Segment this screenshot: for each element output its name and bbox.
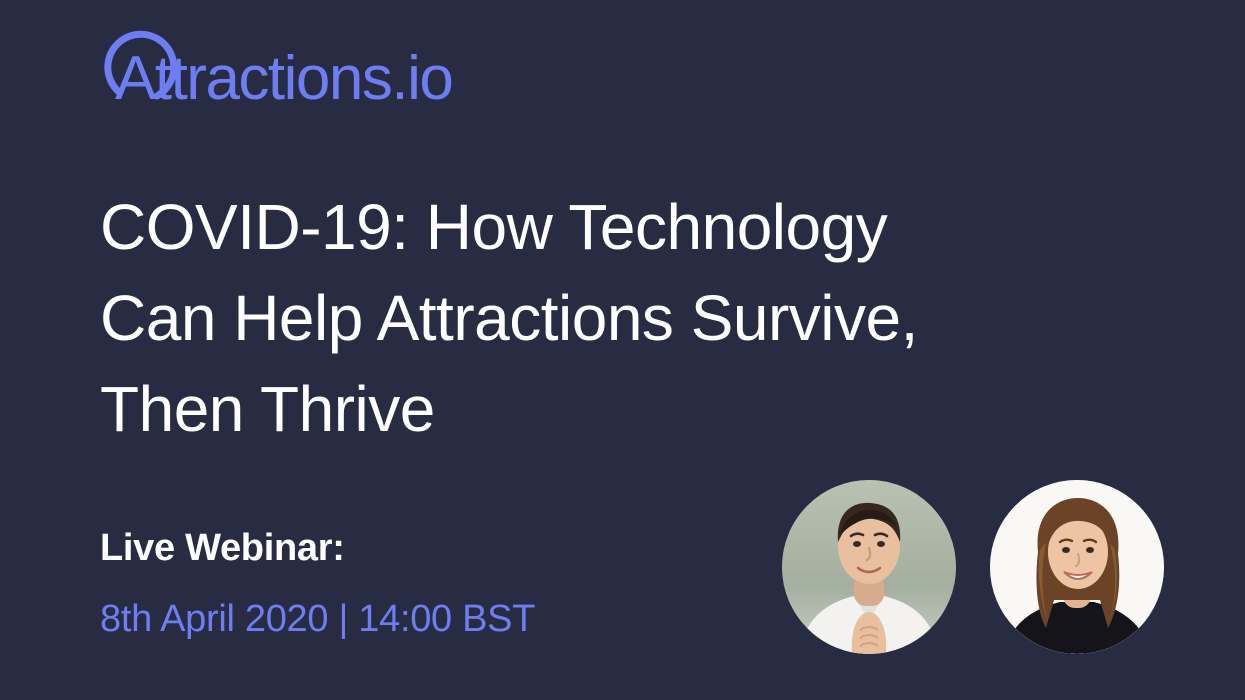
brand-logo[interactable]: Attractions.io — [95, 18, 565, 118]
speaker-2-photo-icon — [990, 480, 1164, 654]
speaker-avatars — [782, 480, 1165, 660]
avatar — [990, 480, 1164, 654]
page-title: COVID-19: How Technology Can Help Attrac… — [100, 182, 1110, 455]
avatar — [782, 480, 956, 654]
headline-line-2: Can Help Attractions Survive, — [100, 273, 1110, 364]
webinar-datetime: 8th April 2020 | 14:00 BST — [100, 595, 720, 643]
headline-line-3: Then Thrive — [100, 364, 1110, 455]
webinar-label: Live Webinar: — [100, 523, 720, 573]
brand-wordmark: Attractions.io — [115, 48, 452, 110]
speaker-1-photo-icon — [782, 480, 956, 654]
headline-line-1: COVID-19: How Technology — [100, 182, 1110, 273]
webinar-details: Live Webinar: 8th April 2020 | 14:00 BST — [100, 523, 720, 643]
webinar-promo-slide: Attractions.io COVID-19: How Technology … — [0, 0, 1245, 700]
